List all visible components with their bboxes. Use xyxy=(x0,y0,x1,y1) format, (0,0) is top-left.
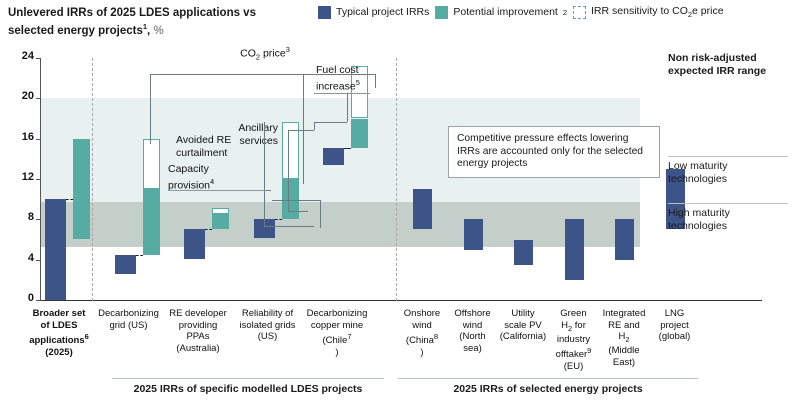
leader-ancillary-horizontal xyxy=(264,226,314,227)
leader-co2-price-vertical-reliability xyxy=(303,74,304,184)
y-axis-tick-mark xyxy=(36,139,41,140)
connector-decarbonizing-copper-mine-chile xyxy=(344,148,351,149)
divider-energy-start xyxy=(396,58,397,301)
bar-typical-green-h2-industry-offtaker-eu xyxy=(565,219,584,280)
title-line-2: selected energy projects xyxy=(8,25,143,37)
connector-broader-set xyxy=(66,199,73,200)
y-axis-tick-label: 4 xyxy=(8,252,34,264)
legend-item-potential: Potential improvement2 xyxy=(435,6,567,19)
x-axis-label-reliability-isolated-grids-us: Reliability ofisolated grids(US) xyxy=(233,308,303,343)
leader-avoided-re-vertical xyxy=(320,200,321,228)
high-maturity-label: High maturity technologies xyxy=(668,207,788,232)
legend-label-sensitivity: IRR sensitivity to CO2e price xyxy=(591,5,724,19)
group-label-ldes: 2025 IRRs of specific modelled LDES proj… xyxy=(112,383,384,395)
legend-swatch-sensitivity-icon xyxy=(573,6,586,19)
chart-root: Unlevered IRRs of 2025 LDES applications… xyxy=(0,0,800,406)
leader-avoided-re-horizontal xyxy=(272,200,320,201)
bar-typical-offshore-wind-north-sea xyxy=(464,219,483,249)
page-title: Unlevered IRRs of 2025 LDES applications… xyxy=(8,6,338,38)
bar-typical-decarbonizing-grid-us xyxy=(115,255,136,274)
x-axis-label-decarbonizing-copper-mine-chile: Decarbonizingcopper mine(Chile7) xyxy=(302,308,372,358)
annotation-capacity-provision: Capacityprovision4 xyxy=(168,163,268,192)
y-axis-tick-mark xyxy=(36,300,41,301)
connector-re-developer-ppas-australia xyxy=(205,229,212,230)
x-axis-label-green-h2-industry-offtaker-eu: GreenH2 forindustryofftaker9(EU) xyxy=(548,308,600,373)
x-axis-label-onshore-wind-china: Onshorewind(China8) xyxy=(396,308,448,358)
bar-typical-onshore-wind-china xyxy=(413,189,432,229)
x-axis-label-decarbonizing-grid-us: Decarbonizinggrid (US) xyxy=(94,308,164,331)
y-axis-tick-mark xyxy=(36,98,41,99)
bar-typical-utility-scale-pv-california xyxy=(514,240,533,265)
annotation-co2-price: CO2 price3 xyxy=(190,44,340,64)
y-axis-tick-label: 20 xyxy=(8,90,34,102)
x-axis-label-broader-set: Broader setof LDESapplications6(2025) xyxy=(24,308,94,358)
bar-sensitivity-decarbonizing-grid-us xyxy=(143,139,160,189)
legend-swatch-potential-icon xyxy=(435,6,448,19)
x-axis-label-lng-project-global: LNGproject(global) xyxy=(649,308,701,343)
bar-potential-re-developer-ppas-australia xyxy=(212,214,229,229)
y-axis-tick-label: 8 xyxy=(8,211,34,223)
group-rule-ldes xyxy=(112,378,384,379)
bar-typical-integrated-re-h2-middle-east xyxy=(615,219,634,259)
low-maturity-label: Low maturity technologies xyxy=(668,160,788,185)
title-unit: % xyxy=(153,25,163,37)
y-axis-tick-mark xyxy=(36,58,41,59)
connector-decarbonizing-grid-us xyxy=(136,255,143,256)
callout-box: Competitive pressure effects lowering IR… xyxy=(448,126,660,178)
x-axis-label-re-developer-ppas-australia: RE developerprovidingPPAs(Australia) xyxy=(163,308,233,354)
y-axis-tick-mark xyxy=(36,219,41,220)
y-axis-tick-label: 24 xyxy=(8,50,34,62)
annotation-fuel-cost-increase: Fuel costincrease5 xyxy=(316,64,390,93)
x-axis-line xyxy=(40,300,762,301)
bar-typical-broader-set xyxy=(45,199,66,300)
x-axis-label-utility-scale-pv-california: Utilityscale PV(California) xyxy=(497,308,549,343)
range-title-label: Non risk-adjusted expected IRR range xyxy=(668,52,788,77)
bar-potential-broader-set xyxy=(73,139,90,240)
x-axis-label-integrated-re-h2-middle-east: IntegratedRE andH2(MiddleEast) xyxy=(598,308,650,368)
bar-potential-decarbonizing-copper-mine-chile xyxy=(351,119,368,148)
legend-label-potential: Potential improvement xyxy=(453,6,557,18)
group-rule-energy xyxy=(398,378,698,379)
band-high-maturity xyxy=(40,202,640,246)
legend-label-typical: Typical project IRRs xyxy=(336,6,429,18)
divider-ldes-start xyxy=(92,58,93,301)
y-axis-tick-label: 0 xyxy=(8,292,34,304)
bar-potential-decarbonizing-grid-us xyxy=(143,189,160,255)
legend-potential-footnote: 2 xyxy=(563,8,567,17)
annotation-avoided-re-curtailment: Avoided REcurtailment xyxy=(176,134,272,159)
bar-typical-re-developer-ppas-australia xyxy=(184,229,205,258)
y-axis-tick-label: 12 xyxy=(8,171,34,183)
legend: Typical project IRRs Potential improveme… xyxy=(318,5,724,19)
y-axis-tick-label: 16 xyxy=(8,131,34,143)
legend-item-typical: Typical project IRRs xyxy=(318,6,429,19)
bar-sensitivity-re-developer-ppas-australia xyxy=(212,208,229,214)
legend-item-sensitivity: IRR sensitivity to CO2e price xyxy=(573,5,724,19)
group-label-energy: 2025 IRRs of selected energy projects xyxy=(398,383,698,395)
legend-swatch-typical-icon xyxy=(318,6,331,19)
y-axis-tick-mark xyxy=(36,260,41,261)
leader-co2-price-vertical-grid xyxy=(150,74,151,144)
title-line-1: Unlevered IRRs of 2025 LDES applications… xyxy=(8,7,256,19)
y-axis-tick-mark xyxy=(36,179,41,180)
connector-reliability-isolated-grids-us xyxy=(275,219,282,220)
bar-typical-decarbonizing-copper-mine-chile xyxy=(323,148,344,165)
x-axis-label-offshore-wind-north-sea: Offshorewind(Northsea) xyxy=(447,308,499,354)
